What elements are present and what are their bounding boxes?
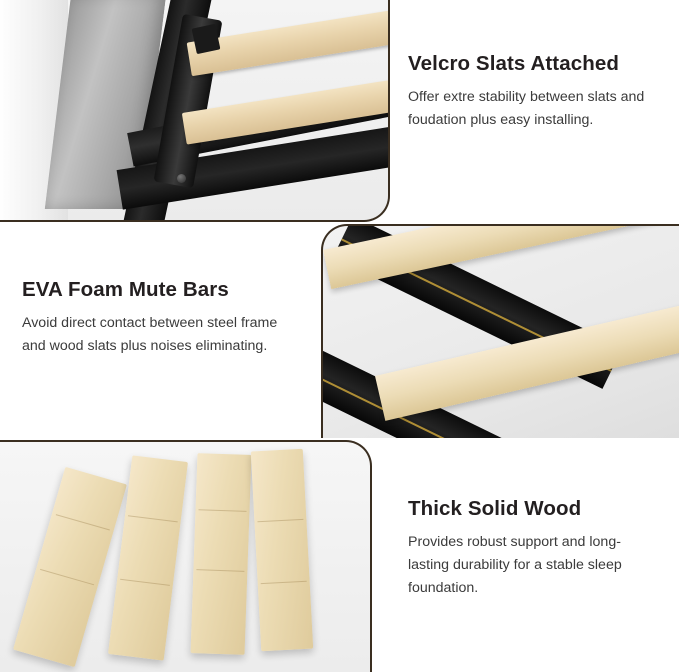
feature-text-thick-solid-wood: Thick Solid Wood Provides robust support… [408,497,658,600]
feature-body-eva-foam: Avoid direct contact between steel frame… [22,312,292,358]
wood-grain-line [261,581,307,584]
feature-text-eva-foam: EVA Foam Mute Bars Avoid direct contact … [22,278,292,358]
wood-grain-line [128,515,177,522]
feature-heading-thick-solid-wood: Thick Solid Wood [408,497,658,521]
wood-plank-4 [251,449,313,651]
feature-body-thick-solid-wood: Provides robust support and long-lasting… [408,531,658,600]
wood-grain-line [56,514,110,530]
wood-plank-3 [191,453,252,655]
velcro-patch [192,24,221,54]
product-feature-infographic: Velcro Slats Attached Offer extre stabil… [0,0,679,668]
feature-heading-velcro-slats: Velcro Slats Attached [408,52,658,76]
wood-grain-line [199,509,247,512]
wood-grain-line [258,519,304,522]
feature-heading-eva-foam: EVA Foam Mute Bars [22,278,292,302]
wood-grain-line [120,579,169,586]
velcro-slats-photo [0,0,390,222]
screw-head [177,174,186,183]
eva-foam-bars-photo [321,224,679,438]
feature-body-velcro-slats: Offer extre stability between slats and … [408,86,658,132]
wood-grain-line [40,568,94,584]
feature-text-velcro-slats: Velcro Slats Attached Offer extre stabil… [408,52,658,132]
solid-wood-planks-photo [0,440,372,672]
wood-grain-line [197,569,245,572]
